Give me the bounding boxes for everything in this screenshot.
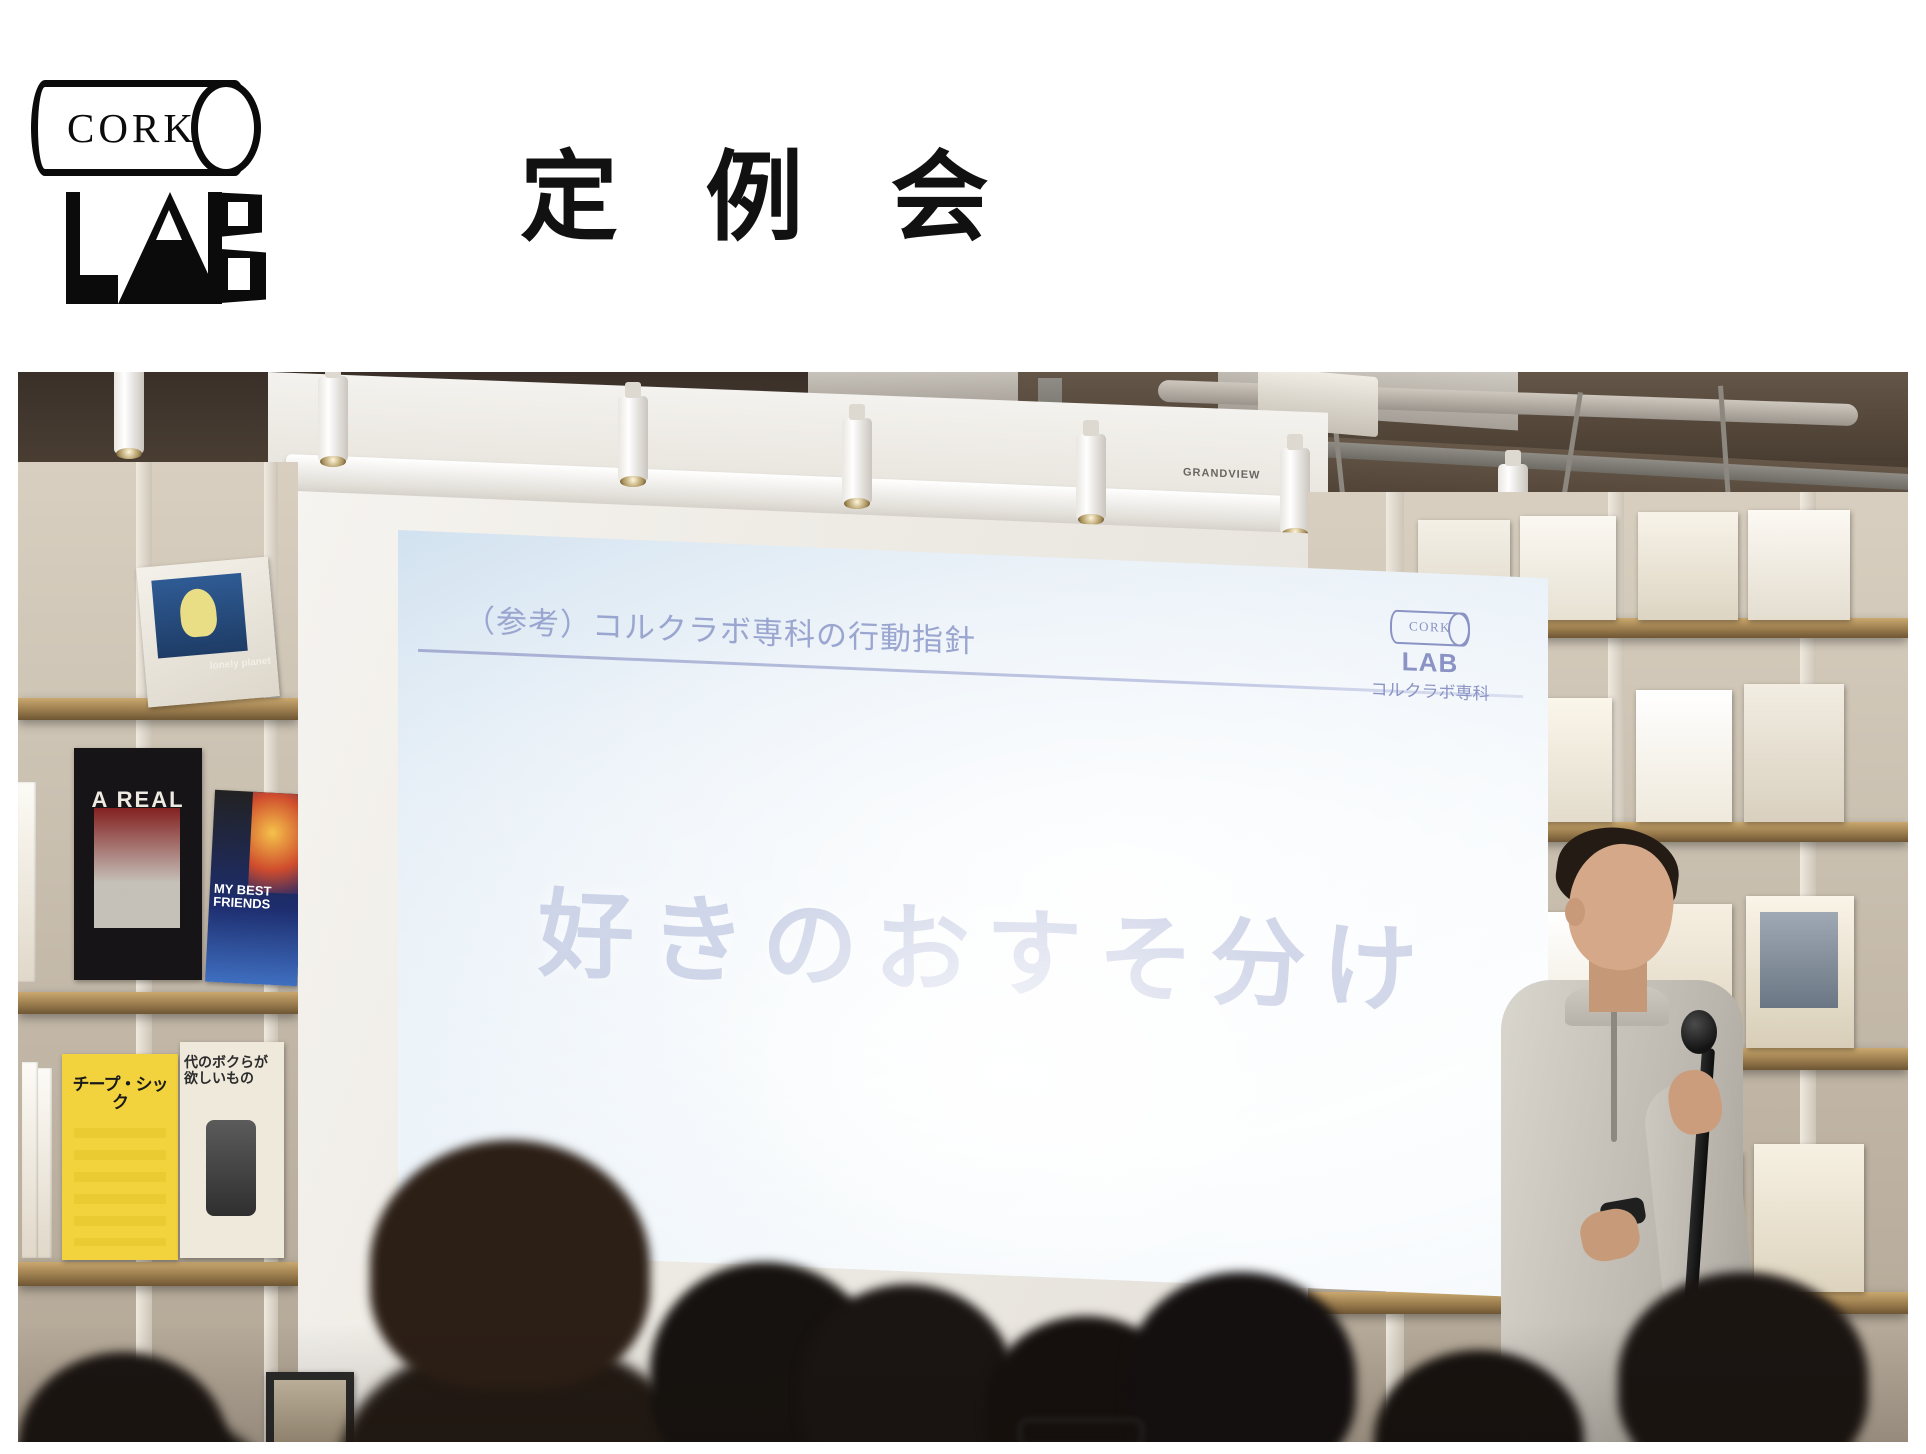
shelf-board [18, 1262, 298, 1286]
glasses-icon [1018, 1418, 1144, 1442]
bookshelf-left: lonely planet A REAL MY BEST FRIENDS チープ… [18, 462, 298, 1442]
shelf-board [18, 992, 298, 1014]
microphone-head-icon [1681, 1010, 1717, 1054]
book-item: lonely planet [136, 557, 280, 708]
lab-letter-b-counter-bottom [228, 258, 250, 290]
logo-cork-text: CORK [57, 106, 207, 150]
cork-barrel-icon: CORK [31, 80, 261, 180]
book-title: MY BEST FRIENDS [213, 882, 298, 912]
event-photo: GRANDVIEW lonely planet A REAL MY BEST F… [18, 372, 1908, 1442]
book-title: 代のボクらが欲しいもの [184, 1054, 280, 1086]
presenter-ear [1565, 898, 1585, 926]
book-spine [18, 782, 36, 982]
lab-letter-a [118, 192, 222, 304]
book-item: チープ・シック [62, 1054, 178, 1260]
lab-letter-a-counter [156, 210, 182, 240]
track-spotlight [1280, 448, 1310, 534]
lab-letter-b-stem [208, 192, 222, 304]
book-title: チープ・シック [66, 1076, 174, 1112]
track-spotlight [618, 396, 648, 482]
track-spotlight [114, 372, 144, 454]
book-title: lonely planet [185, 657, 272, 675]
book-title: A REAL [78, 788, 198, 811]
track-spotlight [1076, 434, 1106, 520]
book-spine [22, 1062, 38, 1258]
book-item: DROP [266, 1372, 354, 1442]
book-item [1748, 510, 1850, 620]
slide-logo-lab: LAB [1364, 646, 1496, 678]
track-spotlight [318, 376, 348, 462]
logo-lab-text [62, 192, 262, 304]
page-header: CORK 定 例 会 [0, 0, 1926, 372]
slide-logo-cork: CORK [1390, 610, 1470, 647]
lab-letter-b-counter-top [228, 202, 248, 226]
page-title: 定 例 会 [520, 148, 1018, 246]
audience-member [370, 1140, 650, 1390]
slide-logo: CORK LAB コルクラボ専科 [1364, 608, 1496, 705]
book-spine [38, 1068, 52, 1258]
cork-lab-logo: CORK [26, 70, 296, 320]
presenter-zipper [1611, 1002, 1617, 1142]
book-item: 代のボクらが欲しいもの [180, 1042, 284, 1258]
track-spotlight [842, 418, 872, 504]
book-item [1638, 512, 1738, 620]
lab-letter-l-foot [66, 275, 118, 304]
book-item: MY BEST FRIENDS [205, 790, 298, 987]
book-item: A REAL [74, 748, 202, 980]
